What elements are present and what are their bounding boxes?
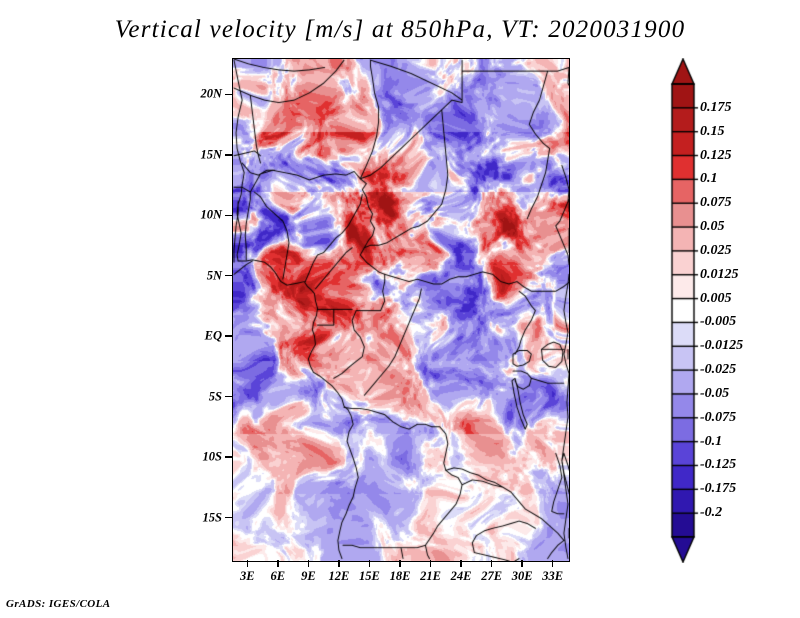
colorbar-tick-label: -0.2 (700, 505, 722, 521)
colorbar-tick-label: 0.005 (700, 291, 732, 307)
y-axis-tick-mark (225, 154, 232, 156)
x-axis-tick-mark (399, 560, 401, 567)
colorbar-tick-label: 0.075 (700, 195, 732, 211)
x-axis-tick-mark (430, 560, 432, 567)
vertical-velocity-heatmap (233, 59, 569, 561)
colorbar-tick-label: 0.0125 (700, 267, 739, 283)
x-axis-tick-label: 27E (481, 569, 502, 584)
colorbar-tick-label: -0.005 (700, 314, 736, 330)
y-axis-tick-label: 15S (180, 510, 222, 525)
footer-credit: GrADS: IGES/COLA (6, 598, 111, 610)
y-axis-tick-mark (225, 335, 232, 337)
colorbar-tick-label: 0.175 (700, 100, 732, 116)
y-axis-tick-label: 10N (180, 208, 222, 223)
colorbar-tick-label: -0.025 (700, 362, 736, 378)
y-axis-tick-label: 5N (180, 268, 222, 283)
colorbar-tick-label: -0.075 (700, 410, 736, 426)
y-axis-tick-mark (225, 275, 232, 277)
x-axis-tick-mark (552, 560, 554, 567)
x-axis-tick-label: 3E (240, 569, 255, 584)
x-axis-tick-mark (247, 560, 249, 567)
x-axis-tick-mark (521, 560, 523, 567)
colorbar-tick-label: -0.05 (700, 386, 729, 402)
y-axis-tick-mark (225, 94, 232, 96)
x-axis-tick-label: 9E (301, 569, 316, 584)
x-axis-tick-mark (338, 560, 340, 567)
x-axis-tick-label: 33E (542, 569, 563, 584)
x-axis-tick-label: 12E (328, 569, 349, 584)
y-axis-tick-label: 10S (180, 450, 222, 465)
y-axis-tick-label: EQ (180, 329, 222, 344)
y-axis-tick-label: 5S (180, 389, 222, 404)
x-axis-tick-label: 30E (512, 569, 533, 584)
x-axis-tick-label: 6E (271, 569, 286, 584)
x-axis-tick-label: 21E (420, 569, 441, 584)
colorbar-tick-label: 0.15 (700, 124, 725, 140)
colorbar-tick-label: -0.1 (700, 434, 722, 450)
x-axis-tick-mark (369, 560, 371, 567)
colorbar-tick-label: -0.0125 (700, 338, 743, 354)
y-axis-tick-mark (225, 215, 232, 217)
x-axis-tick-label: 18E (390, 569, 411, 584)
x-axis-tick-mark (460, 560, 462, 567)
colorbar-tick-label: 0.05 (700, 219, 725, 235)
y-axis-tick-mark (225, 396, 232, 398)
x-axis-tick-mark (491, 560, 493, 567)
colorbar-tick-label: -0.125 (700, 457, 736, 473)
x-axis-tick-mark (308, 560, 310, 567)
y-axis-tick-label: 15N (180, 147, 222, 162)
y-axis-tick-mark (225, 456, 232, 458)
colorbar-tick-label: 0.125 (700, 148, 732, 164)
y-axis-tick-label: 20N (180, 87, 222, 102)
map-plot-area (232, 58, 570, 562)
colorbar-tick-label: 0.1 (700, 171, 718, 187)
page-title: Vertical velocity [m/s] at 850hPa, VT: 2… (0, 16, 800, 44)
x-axis-tick-label: 15E (359, 569, 380, 584)
y-axis-tick-mark (225, 517, 232, 519)
colorbar: 0.1750.150.1250.10.0750.050.0250.01250.0… (670, 58, 790, 563)
colorbar-tick-label: 0.025 (700, 243, 732, 259)
x-axis-tick-mark (277, 560, 279, 567)
x-axis-tick-label: 24E (451, 569, 472, 584)
colorbar-tick-label: -0.175 (700, 481, 736, 497)
